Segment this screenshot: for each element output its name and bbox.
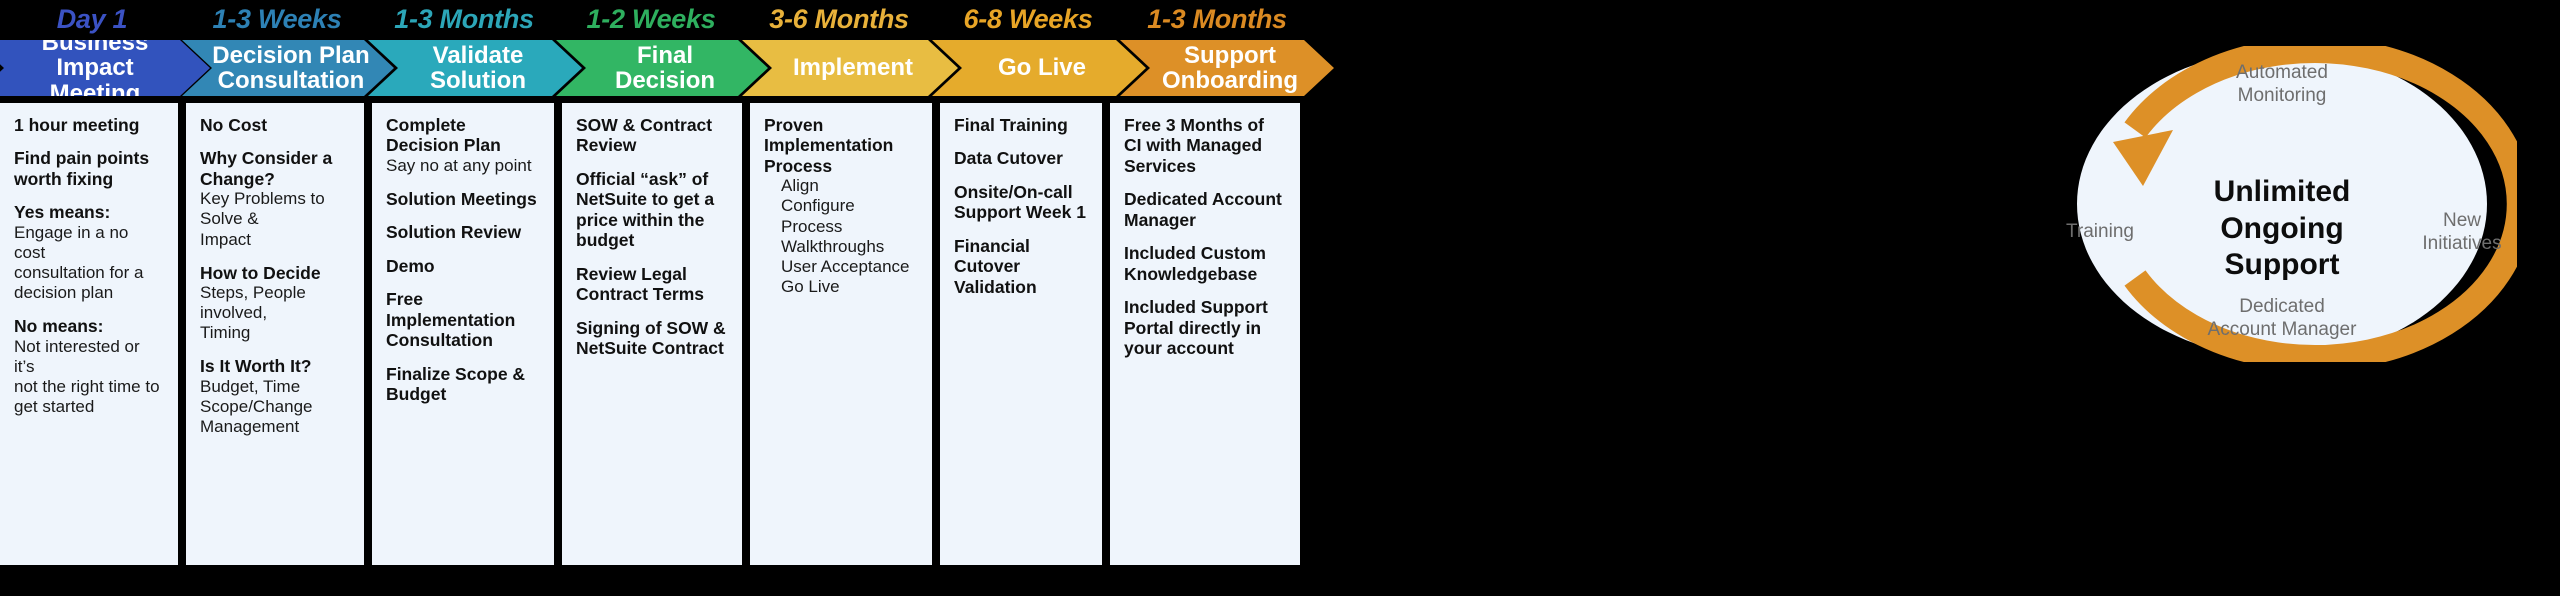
block-heading: Solution Meetings: [386, 189, 540, 209]
stage-arrow-support-onboarding[interactable]: Support Onboarding: [1120, 40, 1334, 96]
stage-panel-final-decision: SOW & Contract Review Official “ask” of …: [562, 103, 742, 565]
block-line: Key Problems to Solve &: [200, 189, 350, 229]
timeline-label-1: 1-3 Weeks: [184, 2, 370, 36]
block-line: Engage in a no cost: [14, 223, 164, 263]
block-heading: Final Training: [954, 115, 1088, 135]
panel-block: Yes means: Engage in a no cost consultat…: [14, 202, 164, 303]
loop-satellite-training: Training: [2025, 221, 2175, 244]
panel-block: Included Support Portal directly in your…: [1124, 297, 1286, 358]
panel-block: Find pain points worth fixing: [14, 148, 164, 189]
block-heading: Finalize Scope & Budget: [386, 364, 540, 405]
stage-arrow-validate-solution[interactable]: Validate Solution: [368, 40, 582, 96]
panel-block: Signing of SOW & NetSuite Contract: [576, 318, 728, 359]
panel-block: Onsite/On-call Support Week 1: [954, 182, 1088, 223]
timeline-label-3: 1-2 Weeks: [558, 2, 744, 36]
stage-arrow-label: Validate Solution: [396, 43, 560, 94]
block-line: Not interested or it’s: [14, 337, 164, 377]
timeline-label-2: 1-3 Months: [370, 2, 558, 36]
block-heading: Why Consider a Change?: [200, 148, 350, 189]
process-flow-diagram: Day 1 1-3 Weeks 1-3 Months 1-2 Weeks 3-6…: [0, 0, 2560, 596]
block-line: User Acceptance: [764, 257, 918, 277]
block-heading: Onsite/On-call Support Week 1: [954, 182, 1088, 223]
timeline-label-6: 1-3 Months: [1122, 2, 1312, 36]
loop-satellite-automated-monitoring: Automated Monitoring: [2167, 62, 2397, 108]
block-line: Budget, Time: [200, 377, 350, 397]
block-heading: Free 3 Months of CI with Managed Service…: [1124, 115, 1286, 176]
stage-arrow-label: Implement: [793, 55, 913, 80]
panel-block: SOW & Contract Review: [576, 115, 728, 156]
ongoing-support-loop: Unlimited Ongoing Support Automated Moni…: [2047, 46, 2517, 362]
timeline-label-4: 3-6 Months: [744, 2, 934, 36]
loop-satellite-new-initiatives: New Initiatives: [2387, 210, 2537, 256]
panel-block: Review Legal Contract Terms: [576, 264, 728, 305]
block-heading: How to Decide: [200, 263, 350, 283]
block-heading: Yes means:: [14, 202, 164, 222]
block-heading: Official “ask” of NetSuite to get a pric…: [576, 169, 728, 251]
panel-block: Free Implementation Consultation: [386, 289, 540, 350]
timeline-label-0: Day 1: [0, 2, 184, 36]
panel-block: No Cost: [200, 115, 350, 135]
block-line: not the right time to: [14, 377, 164, 397]
stage-arrow-label: Support Onboarding: [1162, 43, 1298, 94]
panel-block: Included Custom Knowledgebase: [1124, 243, 1286, 284]
block-heading: No Cost: [200, 115, 350, 135]
block-heading: SOW & Contract Review: [576, 115, 728, 156]
panel-block: Free 3 Months of CI with Managed Service…: [1124, 115, 1286, 176]
timeline-label-5: 6-8 Weeks: [934, 2, 1122, 36]
stage-arrow-go-live[interactable]: Go Live: [932, 40, 1146, 96]
panel-block: How to Decide Steps, People involved, Ti…: [200, 263, 350, 344]
block-heading: Demo: [386, 256, 540, 276]
stage-arrow-decision-plan-consultation[interactable]: Decision Plan Consultation: [182, 40, 394, 96]
panel-block: Dedicated Account Manager: [1124, 189, 1286, 230]
block-heading: Is It Worth It?: [200, 356, 350, 376]
stage-arrow-business-impact-meeting[interactable]: Business Impact Meeting: [0, 40, 210, 96]
block-line: Configure: [764, 196, 918, 216]
block-line: Management: [200, 417, 350, 437]
block-line: Say no at any point: [386, 156, 540, 176]
block-line: Process Walkthroughs: [764, 217, 918, 257]
block-line: get started: [14, 397, 164, 417]
block-line: consultation for a: [14, 263, 164, 283]
panel-block: 1 hour meeting: [14, 115, 164, 135]
block-line: Align: [764, 176, 918, 196]
block-heading: Data Cutover: [954, 148, 1088, 168]
panel-block: Financial Cutover Validation: [954, 236, 1088, 297]
block-line: Scope/Change: [200, 397, 350, 417]
stage-panel-go-live: Final Training Data Cutover Onsite/On-ca…: [940, 103, 1102, 565]
stage-arrow-label: Go Live: [998, 55, 1086, 80]
panel-block: Finalize Scope & Budget: [386, 364, 540, 405]
block-heading: Included Support Portal directly in your…: [1124, 297, 1286, 358]
loop-satellite-dedicated-account-manager: Dedicated Account Manager: [2167, 296, 2397, 342]
panel-block: Official “ask” of NetSuite to get a pric…: [576, 169, 728, 251]
panel-block: Demo: [386, 256, 540, 276]
block-line: Impact: [200, 230, 350, 250]
stage-panel-validate-solution: Complete Decision Plan Say no at any poi…: [372, 103, 554, 565]
block-line: Timing: [200, 323, 350, 343]
stage-panel-support-onboarding: Free 3 Months of CI with Managed Service…: [1110, 103, 1300, 565]
block-line: Go Live: [764, 277, 918, 297]
panel-block: Solution Review: [386, 222, 540, 242]
stage-arrow-label: Final Decision: [584, 43, 746, 94]
panel-block: Data Cutover: [954, 148, 1088, 168]
panel-block: Complete Decision Plan Say no at any poi…: [386, 115, 540, 176]
block-heading: Dedicated Account Manager: [1124, 189, 1286, 230]
panel-block: Why Consider a Change? Key Problems to S…: [200, 148, 350, 249]
stage-panel-decision-plan-consultation: No Cost Why Consider a Change? Key Probl…: [186, 103, 364, 565]
stage-arrow-implement[interactable]: Implement: [742, 40, 958, 96]
panel-block: Is It Worth It? Budget, Time Scope/Chang…: [200, 356, 350, 437]
stage-arrow-final-decision[interactable]: Final Decision: [556, 40, 768, 96]
stage-arrow-label: Business Impact Meeting: [2, 30, 188, 106]
panel-block: No means: Not interested or it’s not the…: [14, 316, 164, 417]
block-heading: Find pain points worth fixing: [14, 148, 164, 189]
panel-block: Proven Implementation Process Align Conf…: [764, 115, 918, 297]
block-heading: Complete Decision Plan: [386, 115, 540, 156]
block-heading: Financial Cutover Validation: [954, 236, 1088, 297]
block-heading: 1 hour meeting: [14, 115, 164, 135]
block-line: Steps, People involved,: [200, 283, 350, 323]
block-heading: Signing of SOW & NetSuite Contract: [576, 318, 728, 359]
panel-block: Final Training: [954, 115, 1088, 135]
stage-panel-business-impact-meeting: 1 hour meeting Find pain points worth fi…: [0, 103, 178, 565]
block-heading: Included Custom Knowledgebase: [1124, 243, 1286, 284]
panel-block: Solution Meetings: [386, 189, 540, 209]
block-heading: No means:: [14, 316, 164, 336]
block-heading: Solution Review: [386, 222, 540, 242]
block-heading: Review Legal Contract Terms: [576, 264, 728, 305]
block-heading: Proven Implementation Process: [764, 115, 918, 176]
block-heading: Free Implementation Consultation: [386, 289, 540, 350]
block-line: decision plan: [14, 283, 164, 303]
stage-arrow-label: Decision Plan Consultation: [212, 43, 369, 94]
stage-panel-implement: Proven Implementation Process Align Conf…: [750, 103, 932, 565]
